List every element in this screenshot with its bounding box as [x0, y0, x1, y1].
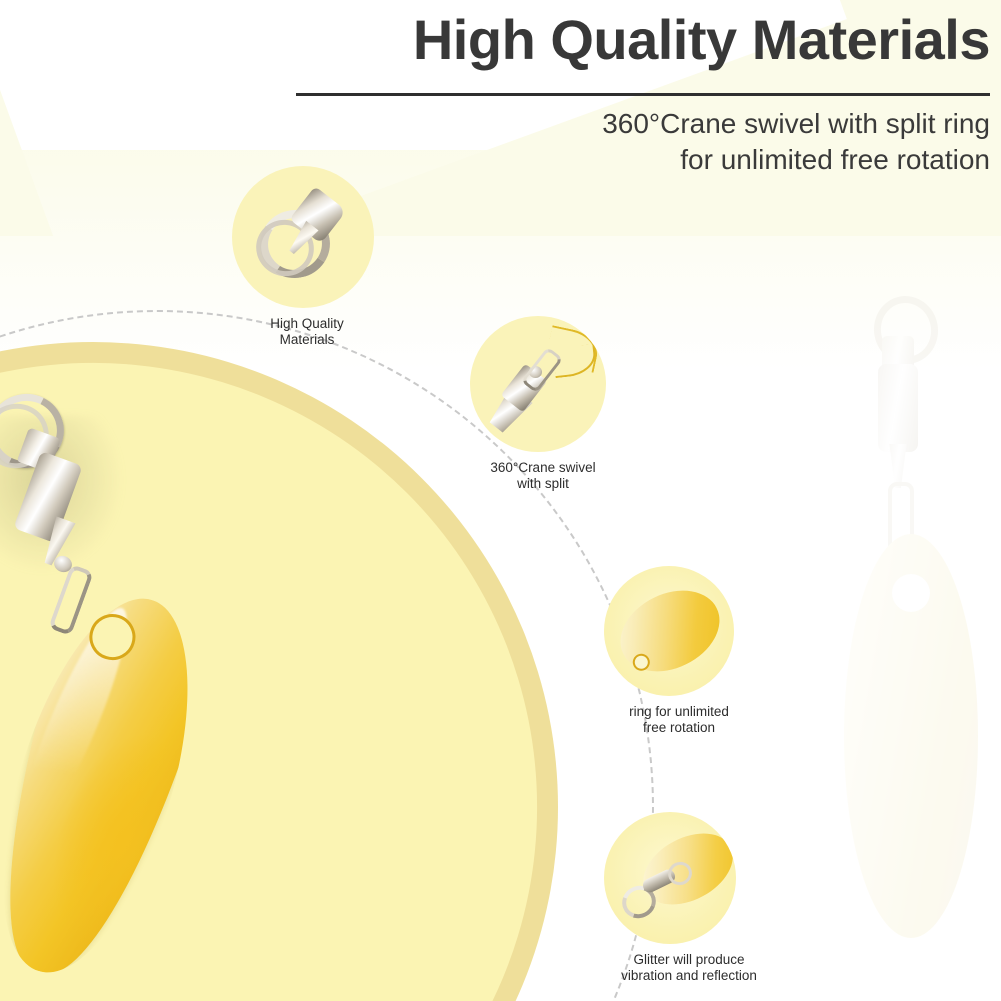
callout-3-line-1: ring for unlimited — [604, 704, 754, 720]
ghost-swivel-barrel — [878, 364, 918, 452]
willow-blade-icon — [607, 575, 733, 687]
callout-4-line-1: Glitter will produce — [604, 952, 774, 968]
callout-high-quality-materials: High Quality Materials — [232, 166, 382, 348]
willow-blade-body — [607, 575, 733, 687]
page-subtitle: 360°Crane swivel with split ring for unl… — [330, 106, 990, 178]
callout-caption-2: 360°Crane swivel with split — [470, 460, 616, 492]
callout-3-line-2: free rotation — [604, 720, 754, 736]
callout-bubble-2 — [470, 316, 606, 452]
ghost-product-image — [842, 296, 982, 946]
callout-caption-3: ring for unlimited free rotation — [604, 704, 754, 736]
infographic-canvas: High Quality Materials 360°Crane swivel … — [0, 0, 1001, 1001]
blade-wire-secondary-icon — [553, 344, 598, 378]
title-divider-rule — [296, 93, 990, 96]
hero-product-image — [0, 388, 400, 988]
hero-willow-blade — [0, 578, 225, 993]
callout-glitter-vibration: Glitter will produce vibration and refle… — [604, 812, 774, 984]
callout-2-line-2: with split — [470, 476, 616, 492]
callout-bubble-1 — [232, 166, 374, 308]
callout-2-line-1: 360°Crane swivel — [470, 460, 616, 476]
subtitle-line-1: 360°Crane swivel with split ring — [330, 106, 990, 142]
subtitle-line-2: for unlimited free rotation — [330, 142, 990, 178]
page-title: High Quality Materials — [300, 8, 990, 72]
callout-crane-swivel: 360°Crane swivel with split — [470, 316, 616, 492]
callout-caption-4: Glitter will produce vibration and refle… — [604, 952, 774, 984]
ghost-blade-hole — [892, 574, 930, 612]
callout-caption-1: High Quality Materials — [232, 316, 382, 348]
callout-1-line-2: Materials — [232, 332, 382, 348]
callout-1-line-1: High Quality — [232, 316, 382, 332]
callout-bubble-3 — [604, 566, 734, 696]
callout-bubble-4 — [604, 812, 736, 944]
callout-4-line-2: vibration and reflection — [604, 968, 774, 984]
callout-free-rotation: ring for unlimited free rotation — [604, 566, 754, 736]
